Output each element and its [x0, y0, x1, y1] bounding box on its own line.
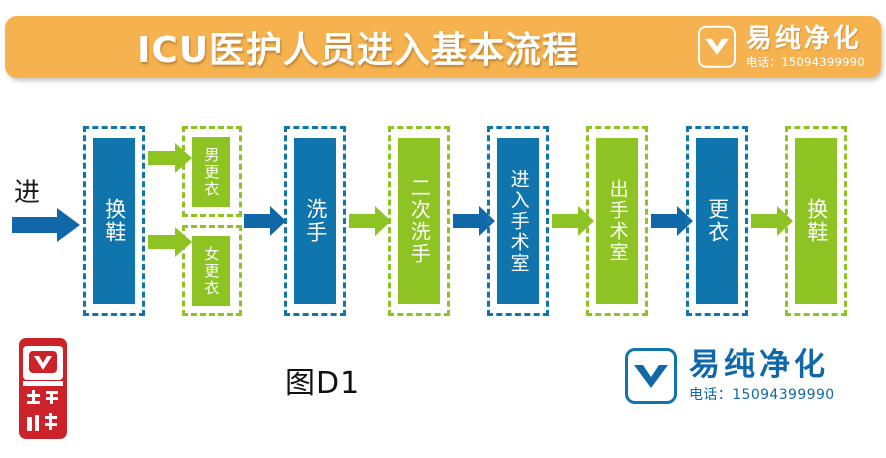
node-second-hand-wash[interactable]: 二次洗手 [398, 138, 440, 304]
node-change-shoes[interactable]: 换鞋 [93, 138, 135, 304]
node-label: 二次洗手 [408, 177, 430, 265]
yichun-w-mark-icon [625, 348, 677, 404]
node-change-shoes-exit[interactable]: 换鞋 [795, 138, 837, 304]
footer-logo-phone: 电话：15094399990 [689, 388, 835, 402]
footer-logo-name: 易纯净化 [689, 350, 835, 381]
node-label: 男更衣 [203, 147, 220, 198]
yichun-w-mark-icon [698, 26, 736, 68]
entry-label: 进 [14, 172, 40, 209]
flow-diagram: 进 换鞋 男更衣 女更衣 洗手 [0, 110, 886, 325]
arrow-genyi-to-xishou [244, 206, 286, 240]
arrow-xishou-to-erci [349, 206, 391, 240]
footer-logo: 易纯净化 电话：15094399990 [625, 348, 835, 404]
node-label: 出手术室 [606, 179, 627, 263]
node-hand-wash[interactable]: 洗手 [294, 138, 336, 304]
figure-caption: 图D1 [285, 358, 360, 402]
header-banner: ICU医护人员进入基本流程 易纯净化 电话：15094399990 [5, 16, 881, 78]
node-label: 更衣 [705, 198, 729, 244]
node-label: 换鞋 [804, 198, 828, 244]
node-exit-operating-room[interactable]: 出手术室 [596, 138, 638, 304]
header-logo-name: 易纯净化 [746, 26, 865, 52]
entry-arrow [12, 208, 80, 246]
header-logo-phone: 电话：15094399990 [746, 57, 865, 69]
node-label: 换鞋 [102, 198, 126, 244]
node-label: 女更衣 [203, 246, 220, 297]
node-label: 洗手 [303, 198, 327, 244]
node-male-changing-room[interactable]: 男更衣 [192, 137, 230, 207]
header-logo: 易纯净化 电话：15094399990 [698, 26, 865, 69]
node-enter-operating-room[interactable]: 进入手术室 [497, 138, 539, 304]
node-label: 进入手术室 [507, 169, 528, 274]
company-seal-stamp [18, 337, 68, 440]
node-change-clothes[interactable]: 更衣 [696, 138, 738, 304]
node-female-changing-room[interactable]: 女更衣 [192, 236, 230, 306]
page-title: ICU医护人员进入基本流程 [137, 21, 579, 73]
